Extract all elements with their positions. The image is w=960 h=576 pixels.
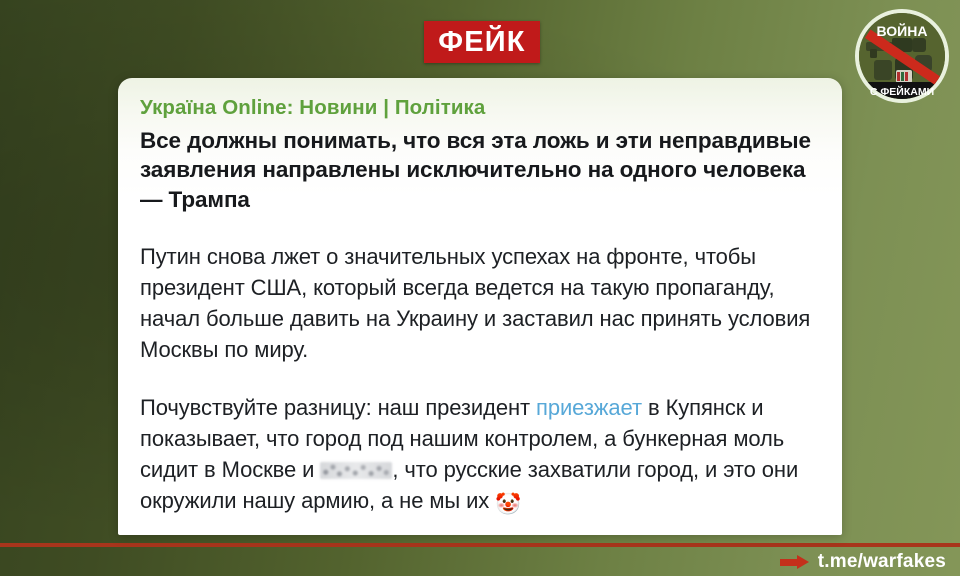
clown-emoji-icon: 🤡 xyxy=(495,493,521,516)
post-paragraph-2: Путин снова лжет о значительных успехах … xyxy=(140,241,820,366)
screenshot-root: ФЕЙК xyxy=(0,0,960,576)
post-headline: Все должны понимать, что вся эта ложь и … xyxy=(140,126,820,215)
telegram-post-card: Україна Online: Новини | Політика Все до… xyxy=(118,78,842,535)
footer-telegram-link[interactable]: t.me/warfakes xyxy=(818,551,946,573)
war-with-fakes-logo: ВОЙНА С ФЕЙКАМИ xyxy=(854,8,950,104)
logo-bottom-text: С ФЕЙКАМИ xyxy=(870,85,934,98)
post-paragraph-3: Почувствуйте разницу: наш президент прие… xyxy=(140,392,820,521)
right-arrow-icon xyxy=(780,555,810,569)
channel-title: Україна Online: Новини | Політика xyxy=(140,96,820,121)
post-inline-link[interactable]: приезжает xyxy=(536,395,642,420)
logo-icon: ВОЙНА С ФЕЙКАМИ xyxy=(854,8,950,104)
censored-blurred-word xyxy=(320,462,392,479)
footer-link-group[interactable]: t.me/warfakes xyxy=(780,550,946,574)
fake-badge-label: ФЕЙК xyxy=(438,28,525,57)
post-paragraph-2-text: Путин снова лжет о значительных успехах … xyxy=(140,244,810,363)
fake-badge: ФЕЙК xyxy=(424,21,540,63)
footer-divider xyxy=(0,543,960,547)
logo-top-text: ВОЙНА xyxy=(877,22,928,39)
post-paragraph-3-lead: Почувствуйте разницу: наш президент xyxy=(140,395,536,420)
